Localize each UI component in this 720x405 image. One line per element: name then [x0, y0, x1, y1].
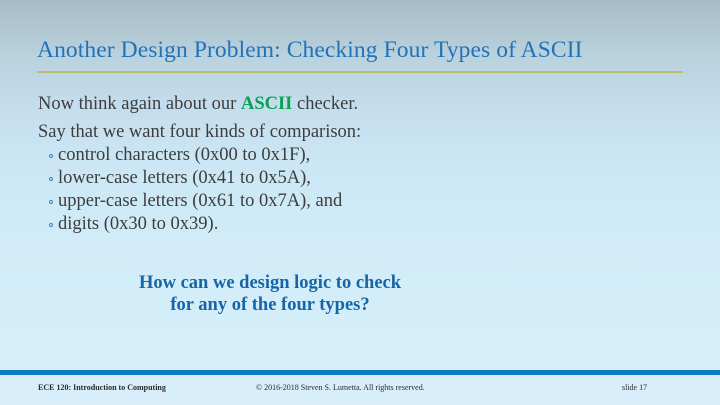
paragraph-1-text-after: checker.	[292, 94, 358, 114]
slide-canvas: Another Design Problem: Checking Four Ty…	[0, 0, 720, 405]
list-item: digits (0x30 to 0x39).	[38, 213, 678, 236]
bullet-circle-icon	[49, 154, 53, 158]
paragraph-1-text-before: Now think again about our	[38, 94, 241, 114]
footer: ECE 120: Introduction to Computing © 201…	[0, 375, 720, 405]
comparison-kinds-list: control characters (0x00 to 0x1F), lower…	[38, 144, 678, 236]
list-item-label: control characters (0x00 to 0x1F),	[58, 145, 310, 165]
list-item-label: upper-case letters (0x61 to 0x7A), and	[58, 191, 342, 211]
question-callout: How can we design logic to check for any…	[50, 272, 490, 316]
title-divider	[37, 71, 683, 73]
list-item: lower-case letters (0x41 to 0x5A),	[38, 167, 678, 190]
question-line-2: for any of the four types?	[50, 294, 490, 316]
bullet-circle-icon	[49, 200, 53, 204]
bullet-circle-icon	[49, 177, 53, 181]
page-title: Another Design Problem: Checking Four Ty…	[37, 36, 687, 64]
ascii-keyword: ASCII	[241, 94, 292, 114]
footer-course-label: ECE 120: Introduction to Computing	[38, 383, 166, 392]
list-item-label: digits (0x30 to 0x39).	[58, 214, 218, 234]
footer-slide-number: slide 17	[622, 383, 647, 392]
body-paragraph-2: Say that we want four kinds of compariso…	[38, 121, 678, 144]
body-paragraph-1: Now think again about our ASCII checker.	[38, 93, 678, 116]
slide-body: Now think again about our ASCII checker.…	[38, 93, 678, 236]
question-line-1: How can we design logic to check	[50, 272, 490, 294]
slide-title-block: Another Design Problem: Checking Four Ty…	[37, 36, 687, 64]
list-item-label: lower-case letters (0x41 to 0x5A),	[58, 168, 311, 188]
list-item: upper-case letters (0x61 to 0x7A), and	[38, 190, 678, 213]
list-item: control characters (0x00 to 0x1F),	[38, 144, 678, 167]
footer-copyright-label: © 2016-2018 Steven S. Lumetta. All right…	[256, 383, 425, 392]
bullet-circle-icon	[49, 223, 53, 227]
